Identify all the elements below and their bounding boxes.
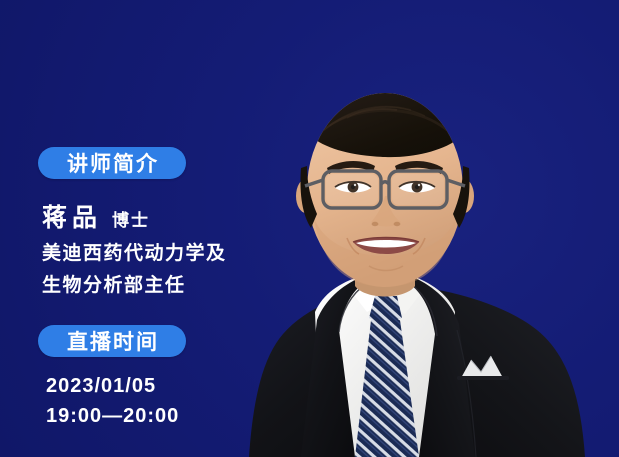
live-date: 2023/01/05 [46,375,156,398]
live-session-poster: 讲师简介 蒋品 博士 美迪西药代动力学及 生物分析部主任 直播时间 2023/0… [0,0,619,457]
live-time-badge: 直播时间 [38,325,186,357]
speaker-name-row: 蒋品 博士 [42,198,150,234]
speaker-honorific: 博士 [112,206,150,231]
speaker-intro-badge: 讲师简介 [38,147,186,179]
live-time-range: 19:00—20:00 [46,405,179,428]
speaker-name: 蒋品 [42,198,102,234]
speaker-portrait-photo [243,0,619,457]
speaker-affiliation-line-2: 生物分析部主任 [42,270,186,297]
speaker-affiliation-line-1: 美迪西药代动力学及 [42,238,227,265]
poster-text-column: 讲师简介 蒋品 博士 美迪西药代动力学及 生物分析部主任 直播时间 2023/0… [0,0,250,457]
